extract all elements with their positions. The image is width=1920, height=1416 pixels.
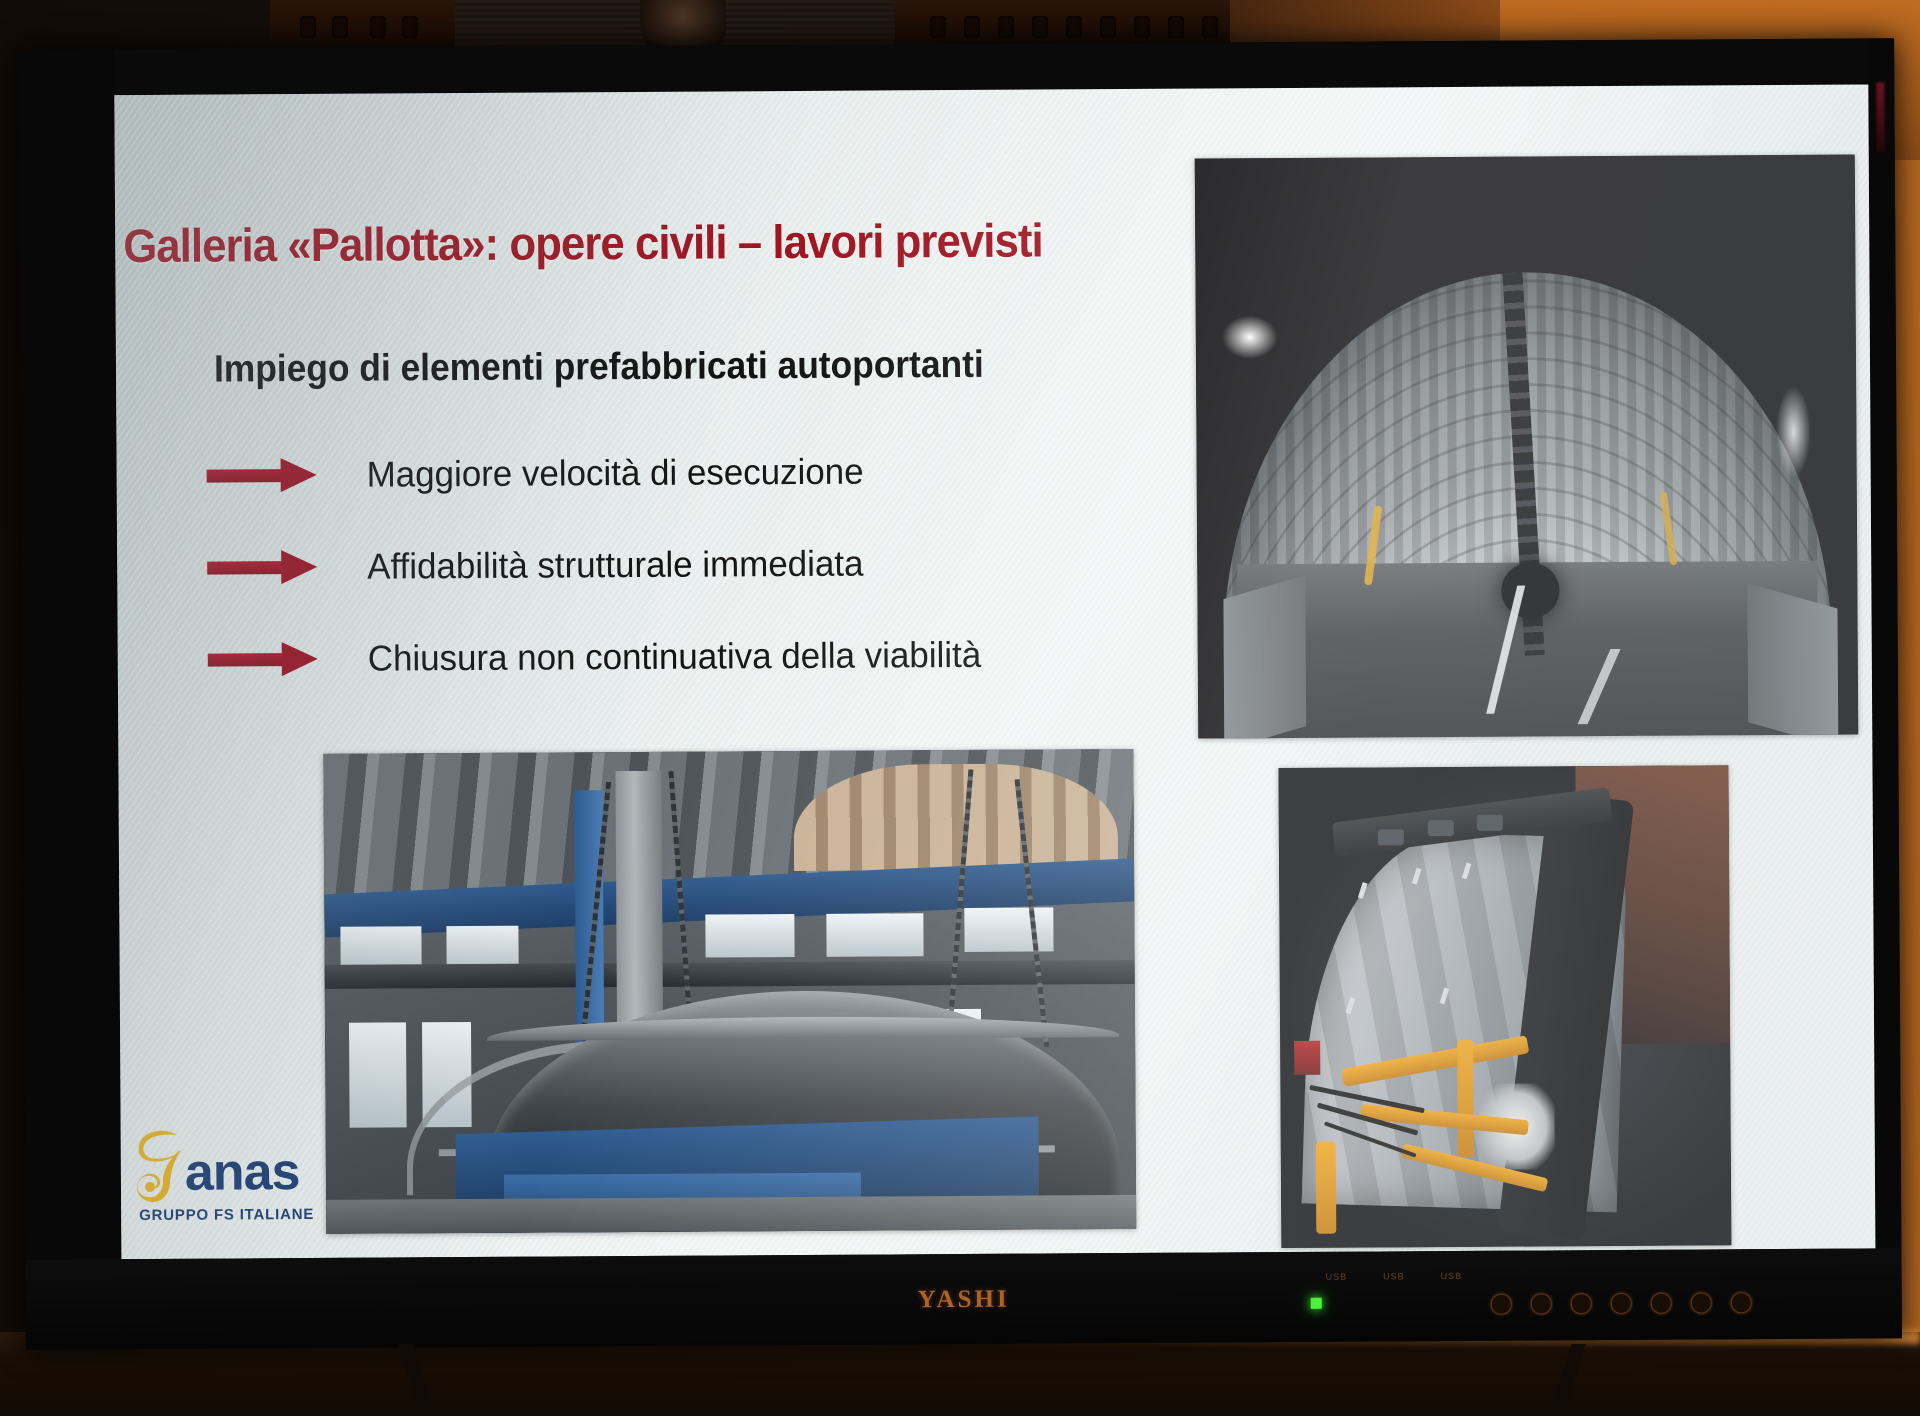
- bezel-edge-highlight: [1876, 82, 1884, 152]
- osd-button-power[interactable]: [1731, 1292, 1752, 1313]
- list-item: Affidabilità strutturale immediata: [207, 515, 1208, 613]
- bullet-list: Maggiore velocità di esecuzione Affidabi…: [206, 423, 1208, 705]
- tunnel-segment-installation-photo: [1278, 765, 1731, 1248]
- presentation-slide: Galleria «Pallotta»: opere civili – lavo…: [114, 84, 1875, 1259]
- usb-port-label: USB: [1383, 1271, 1405, 1281]
- bullet-label: Maggiore velocità di esecuzione: [367, 451, 864, 496]
- anas-tagline: GRUPPO FS ITALIANE: [139, 1206, 314, 1224]
- usb-port-label: USB: [1441, 1271, 1463, 1281]
- anas-wordmark: anas: [185, 1142, 300, 1203]
- list-item: Maggiore velocità di esecuzione: [206, 423, 1207, 521]
- red-arrow-icon: [208, 642, 320, 677]
- bullet-label: Affidabilità strutturale immediata: [367, 543, 863, 588]
- bullet-label: Chiusura non continuativa della viabilit…: [368, 634, 982, 680]
- osd-button-row[interactable]: [1491, 1292, 1752, 1315]
- factory-precast-segment-photo: [323, 749, 1136, 1234]
- list-item: Chiusura non continuativa della viabilit…: [207, 607, 1208, 705]
- osd-button-settings[interactable]: [1651, 1293, 1672, 1314]
- red-arrow-icon: [207, 458, 319, 493]
- anas-logo: anas GRUPPO FS ITALIANE: [129, 1124, 340, 1233]
- osd-button-exit[interactable]: [1691, 1292, 1712, 1313]
- usb-port-row: USB USB USB: [1326, 1271, 1463, 1282]
- osd-button-down[interactable]: [1571, 1293, 1592, 1314]
- slide-title: Galleria «Pallotta»: opere civili – lavo…: [123, 213, 1081, 274]
- tunnel-interior-photo: [1195, 155, 1859, 739]
- monitor-brand-label: YASHI: [918, 1286, 1010, 1315]
- usb-port-label: USB: [1326, 1272, 1348, 1282]
- osd-button-menu[interactable]: [1491, 1294, 1512, 1315]
- monitor-bezel-left: [18, 49, 122, 1350]
- slide-subtitle: Impiego di elementi prefabbricati autopo…: [214, 343, 1107, 391]
- red-arrow-icon: [207, 550, 319, 585]
- osd-button-input[interactable]: [1611, 1293, 1632, 1314]
- power-led-indicator: [1311, 1298, 1322, 1309]
- osd-button-up[interactable]: [1531, 1293, 1552, 1314]
- monitor-bezel-bottom: YASHI USB USB USB: [25, 1248, 1902, 1349]
- monitor: Galleria «Pallotta»: opere civili – lavo…: [18, 38, 1902, 1349]
